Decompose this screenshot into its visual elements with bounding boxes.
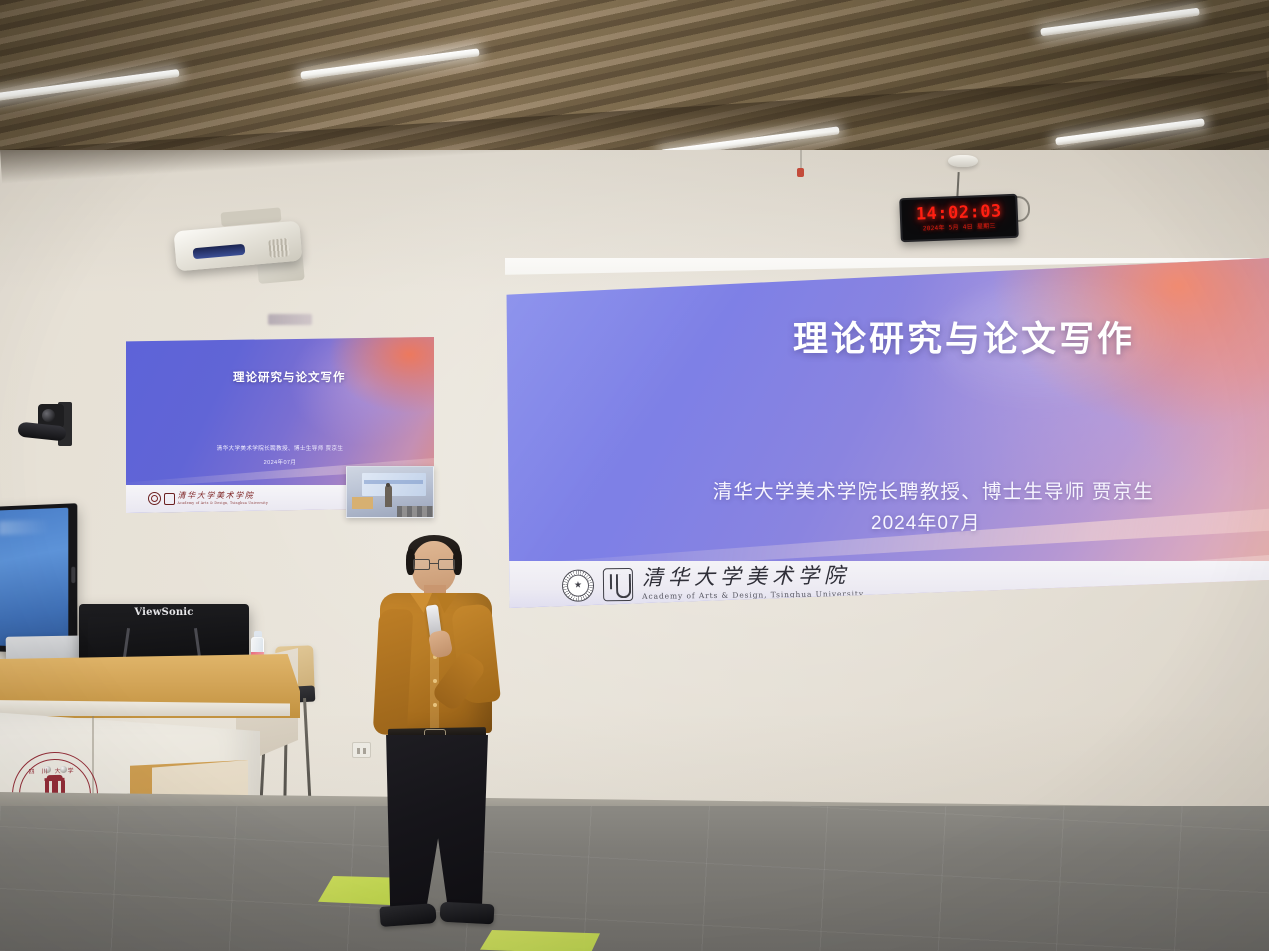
slide-date: 2024年07月 [612,508,1239,535]
footer-name-cn: 清华大学美术学院 [642,565,864,589]
eyeglass-lens-right [438,559,455,570]
pip-podium [352,497,373,509]
slide-title: 理论研究与论文写作 [505,311,1255,362]
clock-time-display: 14:02:03 [916,203,1002,223]
presenter-shoe-right [440,902,495,925]
pip-slide-band [364,480,422,484]
emblem-name-cn: 四川大学 [12,765,96,775]
display-power-button[interactable] [71,567,75,583]
secondary-footer-name-en: Academy of Arts & Design, Tsinghua Unive… [178,501,269,505]
presenter-arm-left [373,608,414,736]
presenter-shoe-left [379,903,436,927]
shirt-button [433,679,437,683]
hanging-cable-tip [797,168,804,177]
auxiliary-touch-display [0,503,77,655]
projector-vent [268,238,289,258]
shirt-button [433,703,437,707]
led-wall-clock: 14:02:03 2024年 5月 4日 星期三 [899,194,1019,242]
main-projection-screen: 理论研究与论文写作 清华大学美术学院长聘教授、博士生导师 贾京生 2024年07… [505,258,1269,608]
lecture-hall-photo: 14:02:03 2024年 5月 4日 星期三 理论研究与论文写作 清华大学美… [0,0,1269,951]
tsinghua-seal-icon [562,569,594,601]
presenter [352,535,512,951]
academy-glyph-icon [603,568,633,601]
pip-inner-screen [362,473,426,496]
ceiling-projector [175,222,320,274]
secondary-footer-name-cn: 清华大学美术学院 [178,492,269,500]
secondary-slide-title: 理论研究与论文写作 [126,369,434,385]
academy-glyph-icon [164,493,175,505]
display-gleam [0,520,49,535]
eyeglass-bridge [430,563,438,564]
secondary-slide-subtitle: 清华大学美术学院长聘教授、博士生导师 贾京生 [138,444,421,452]
seal-tick-ring [562,569,594,601]
tsinghua-seal-icon [148,492,161,505]
slide-subtitle: 清华大学美术学院长聘教授、博士生导师 贾京生 [612,475,1255,504]
floor-tile-grid [0,806,1269,951]
clock-date-display: 2024年 5月 4日 星期三 [923,224,996,233]
presenter-trousers [384,735,488,913]
smoke-detector-icon [948,155,978,167]
pip-live-camera-feed [346,466,434,518]
pip-audience [397,506,433,517]
eyeglass-lens-left [413,559,430,570]
display-panel [0,508,68,649]
camera-lens-icon [42,409,55,422]
hanging-cable [800,150,802,170]
ptz-camera [18,400,72,448]
wall-faint-marking [268,314,312,325]
eyeglasses-icon [412,559,456,570]
pip-speaker [385,485,392,507]
